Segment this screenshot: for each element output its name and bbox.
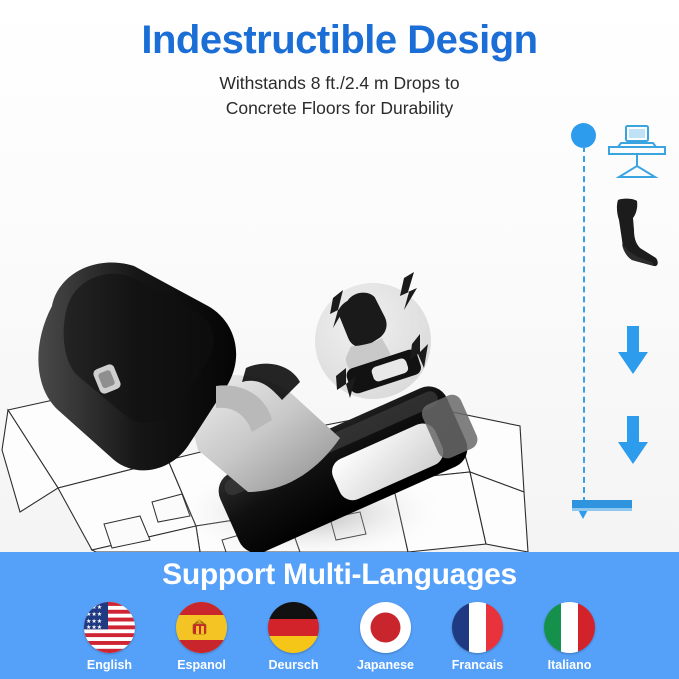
svg-text:★★★: ★★★	[86, 624, 102, 631]
language-label: Italiano	[548, 658, 592, 672]
language-label: Japanese	[357, 658, 414, 672]
subtitle-line-1: Withstands 8 ft./2.4 m Drops to	[0, 71, 679, 96]
language-item-espanol[interactable]: Espanol	[169, 602, 235, 672]
language-label: Espanol	[177, 658, 226, 672]
flag-list: ★★★ ★★★ ★★★ ★★★ English	[0, 602, 679, 672]
page-subtitle: Withstands 8 ft./2.4 m Drops to Concrete…	[0, 71, 679, 121]
scanner-impact-illustration	[0, 120, 560, 552]
concrete-floor-bar	[572, 500, 632, 508]
impact-detail-callout	[315, 272, 431, 399]
flag-fr-icon	[452, 602, 503, 653]
desk-with-laptop-icon	[606, 121, 668, 179]
language-item-francais[interactable]: Francais	[445, 602, 511, 672]
language-item-japanese[interactable]: Japanese	[353, 602, 419, 672]
language-label: English	[87, 658, 132, 672]
flag-es-icon	[176, 602, 227, 653]
multi-language-banner: Support Multi-Languages	[0, 552, 679, 679]
language-item-deursch[interactable]: Deursch	[261, 602, 327, 672]
banner-title: Support Multi-Languages	[0, 558, 679, 592]
page-title: Indestructible Design	[0, 18, 679, 62]
flag-jp-icon	[360, 602, 411, 653]
concrete-floor-bar-shadow	[572, 508, 632, 511]
svg-text:★★★: ★★★	[86, 611, 102, 618]
flag-it-icon	[544, 602, 595, 653]
subtitle-line-2: Concrete Floors for Durability	[0, 96, 679, 121]
svg-text:★★★: ★★★	[86, 604, 102, 611]
drop-start-dot	[571, 123, 596, 148]
flag-de-icon	[268, 602, 319, 653]
language-label: Francais	[452, 658, 503, 672]
drop-height-diagram	[560, 118, 679, 538]
down-arrow-icon	[616, 416, 650, 466]
product-scene	[0, 120, 560, 552]
drop-dashed-line	[583, 146, 585, 513]
flag-us-icon: ★★★ ★★★ ★★★ ★★★	[84, 602, 135, 653]
language-label: Deursch	[268, 658, 318, 672]
product-feature-image: Indestructible Design Withstands 8 ft./2…	[0, 0, 679, 679]
language-item-italiano[interactable]: Italiano	[537, 602, 603, 672]
svg-text:★★★: ★★★	[86, 618, 102, 625]
language-item-english[interactable]: ★★★ ★★★ ★★★ ★★★ English	[77, 602, 143, 672]
down-arrow-icon	[616, 326, 650, 376]
scanner-silhouette-icon	[606, 196, 661, 276]
